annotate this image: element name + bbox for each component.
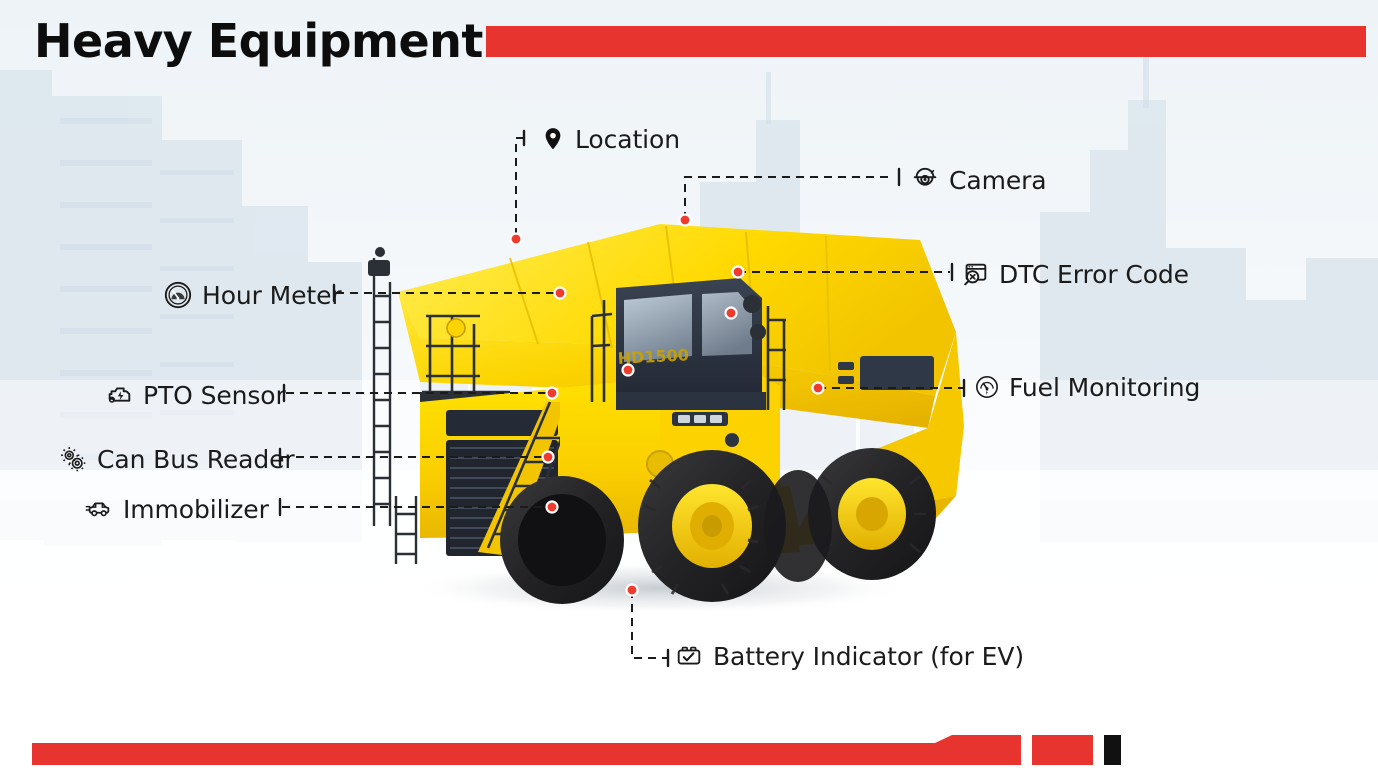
map-pin-icon <box>540 126 566 152</box>
callout-battery[interactable]: Battery Indicator (for EV) <box>674 641 1024 671</box>
callout-dtc-label: DTC Error Code <box>999 262 1189 287</box>
dtc-error-icon <box>960 259 990 289</box>
callout-immobilizer[interactable]: Immobilizer <box>84 494 269 524</box>
callout-immobilizer-label: Immobilizer <box>123 497 269 522</box>
header-accent-bar <box>486 26 1366 57</box>
footer-bar-block <box>1032 735 1093 765</box>
slide-canvas: Heavy Equipment <box>0 0 1378 772</box>
svg-text:HD1500: HD1500 <box>617 345 689 368</box>
callout-canbus-label: Can Bus Reader <box>97 447 295 472</box>
page-title: Heavy Equipment <box>34 18 483 64</box>
callout-hour-meter[interactable]: Hour Meter <box>163 280 342 310</box>
callout-camera-label: Camera <box>949 168 1047 193</box>
svg-text:F: F <box>985 390 988 396</box>
callout-canbus[interactable]: Can Bus Reader <box>58 444 295 474</box>
callout-fuel[interactable]: F Fuel Monitoring <box>974 374 1200 400</box>
hour-meter-icon <box>163 280 193 310</box>
footer-bar-main <box>32 735 1021 765</box>
gears-icon <box>58 444 88 474</box>
callout-camera[interactable]: Camera <box>910 165 1047 195</box>
callout-hour-meter-label: Hour Meter <box>202 283 342 308</box>
dome-camera-icon <box>910 165 940 195</box>
callout-location-label: Location <box>575 127 680 152</box>
callout-pto[interactable]: PTO Sensor <box>104 380 286 410</box>
callout-fuel-label: Fuel Monitoring <box>1009 375 1200 400</box>
footer-accent-bars <box>0 700 1378 772</box>
callout-location[interactable]: Location <box>540 126 680 152</box>
callout-pto-label: PTO Sensor <box>143 383 286 408</box>
fuel-gauge-icon: F <box>974 374 1000 400</box>
car-icon <box>84 494 114 524</box>
footer-bar-dark <box>1104 735 1121 765</box>
callout-battery-label: Battery Indicator (for EV) <box>713 644 1024 669</box>
dump-truck-illustration: HD1500 <box>360 196 970 616</box>
engine-bolt-icon <box>104 380 134 410</box>
callout-dtc[interactable]: DTC Error Code <box>960 259 1189 289</box>
battery-check-icon <box>674 641 704 671</box>
